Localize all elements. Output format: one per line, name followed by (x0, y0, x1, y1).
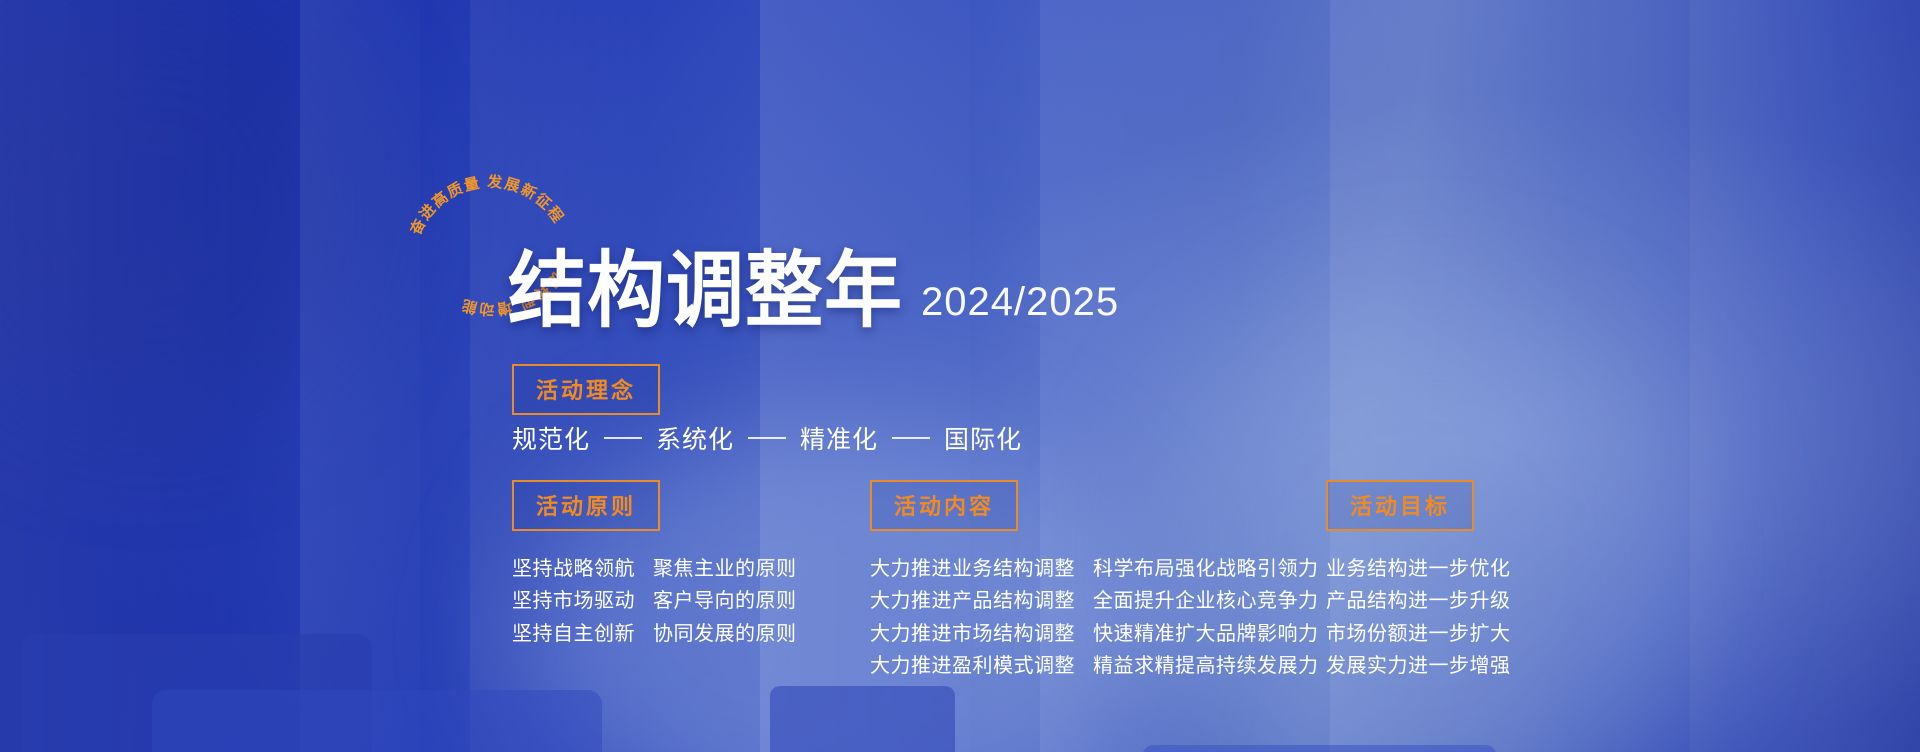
cell: 快速精准扩大品牌影响力 (1093, 618, 1319, 650)
concept-separator-icon (604, 437, 642, 439)
cell: 大力推进业务结构调整 (870, 553, 1075, 585)
concept-item-0: 规范化 (512, 420, 590, 456)
cell: 大力推进市场结构调整 (870, 618, 1075, 650)
concept-item-3: 国际化 (944, 420, 1022, 456)
table-row: 发展实力进一步增强 (1326, 650, 1511, 682)
table-row: 坚持自主创新 协同发展的原则 (512, 618, 797, 650)
cell: 大力推进产品结构调整 (870, 585, 1075, 617)
table-row: 大力推进产品结构调整 全面提升企业核心竞争力 (870, 585, 1319, 617)
cell: 协同发展的原则 (653, 618, 797, 650)
cell: 市场份额进一步扩大 (1326, 618, 1511, 650)
table-row: 业务结构进一步优化 (1326, 553, 1511, 585)
table-row: 大力推进盈利模式调整 精益求精提高持续发展力 (870, 650, 1319, 682)
concept-item-1: 系统化 (656, 420, 734, 456)
concept-item-2: 精准化 (800, 420, 878, 456)
year-range: 2024/2025 (921, 280, 1119, 333)
cell: 坚持战略领航 (512, 553, 635, 585)
table-row: 大力推进业务结构调整 科学布局强化战略引领力 (870, 553, 1319, 585)
cell: 发展实力进一步增强 (1326, 650, 1511, 682)
goals-rows: 业务结构进一步优化 产品结构进一步升级 市场份额进一步扩大 发展实力进一步增强 (1326, 553, 1511, 683)
section-goals: 活动目标 业务结构进一步优化 产品结构进一步升级 市场份额进一步扩大 发展实力进… (1326, 480, 1511, 683)
concept-separator-icon (892, 437, 930, 439)
cell: 大力推进盈利模式调整 (870, 650, 1075, 682)
section-content: 活动内容 大力推进业务结构调整 科学布局强化战略引领力 大力推进产品结构调整 全… (870, 480, 1319, 683)
page-title: 结构调整年 (508, 250, 903, 333)
cell: 全面提升企业核心竞争力 (1093, 585, 1319, 617)
table-row: 坚持市场驱动 客户导向的原则 (512, 585, 797, 617)
cell: 坚持市场驱动 (512, 585, 635, 617)
title-row: 结构调整年 2024/2025 (508, 255, 1119, 333)
seal-text-top: 奋进高质量 发展新征程 (406, 173, 567, 239)
cell: 坚持自主创新 (512, 618, 635, 650)
cell: 精益求精提高持续发展力 (1093, 650, 1319, 682)
table-row: 产品结构进一步升级 (1326, 585, 1511, 617)
cell: 科学布局强化战略引领力 (1093, 553, 1319, 585)
cell: 产品结构进一步升级 (1326, 585, 1511, 617)
cell: 客户导向的原则 (653, 585, 797, 617)
table-row: 大力推进市场结构调整 快速精准扩大品牌影响力 (870, 618, 1319, 650)
table-row: 市场份额进一步扩大 (1326, 618, 1511, 650)
badge-activity-goals: 活动目标 (1326, 480, 1474, 531)
section-principles: 活动原则 坚持战略领航 聚焦主业的原则 坚持市场驱动 客户导向的原则 坚持自主创… (512, 480, 797, 650)
cell: 业务结构进一步优化 (1326, 553, 1511, 585)
content-rows: 大力推进业务结构调整 科学布局强化战略引领力 大力推进产品结构调整 全面提升企业… (870, 553, 1319, 683)
cell: 聚焦主业的原则 (653, 553, 797, 585)
table-row: 坚持战略领航 聚焦主业的原则 (512, 553, 797, 585)
principles-rows: 坚持战略领航 聚焦主业的原则 坚持市场驱动 客户导向的原则 坚持自主创新 协同发… (512, 553, 797, 650)
badge-activity-idea: 活动理念 (512, 364, 660, 415)
concept-separator-icon (748, 437, 786, 439)
concept-list: 规范化 系统化 精准化 国际化 (512, 420, 1022, 456)
badge-activity-principles: 活动原则 (512, 480, 660, 531)
badge-activity-content: 活动内容 (870, 480, 1018, 531)
campaign-banner: 奋进高质量 发展新征程 促转型 增动能 结构调整年 2024/2025 活动理念… (0, 0, 1920, 752)
